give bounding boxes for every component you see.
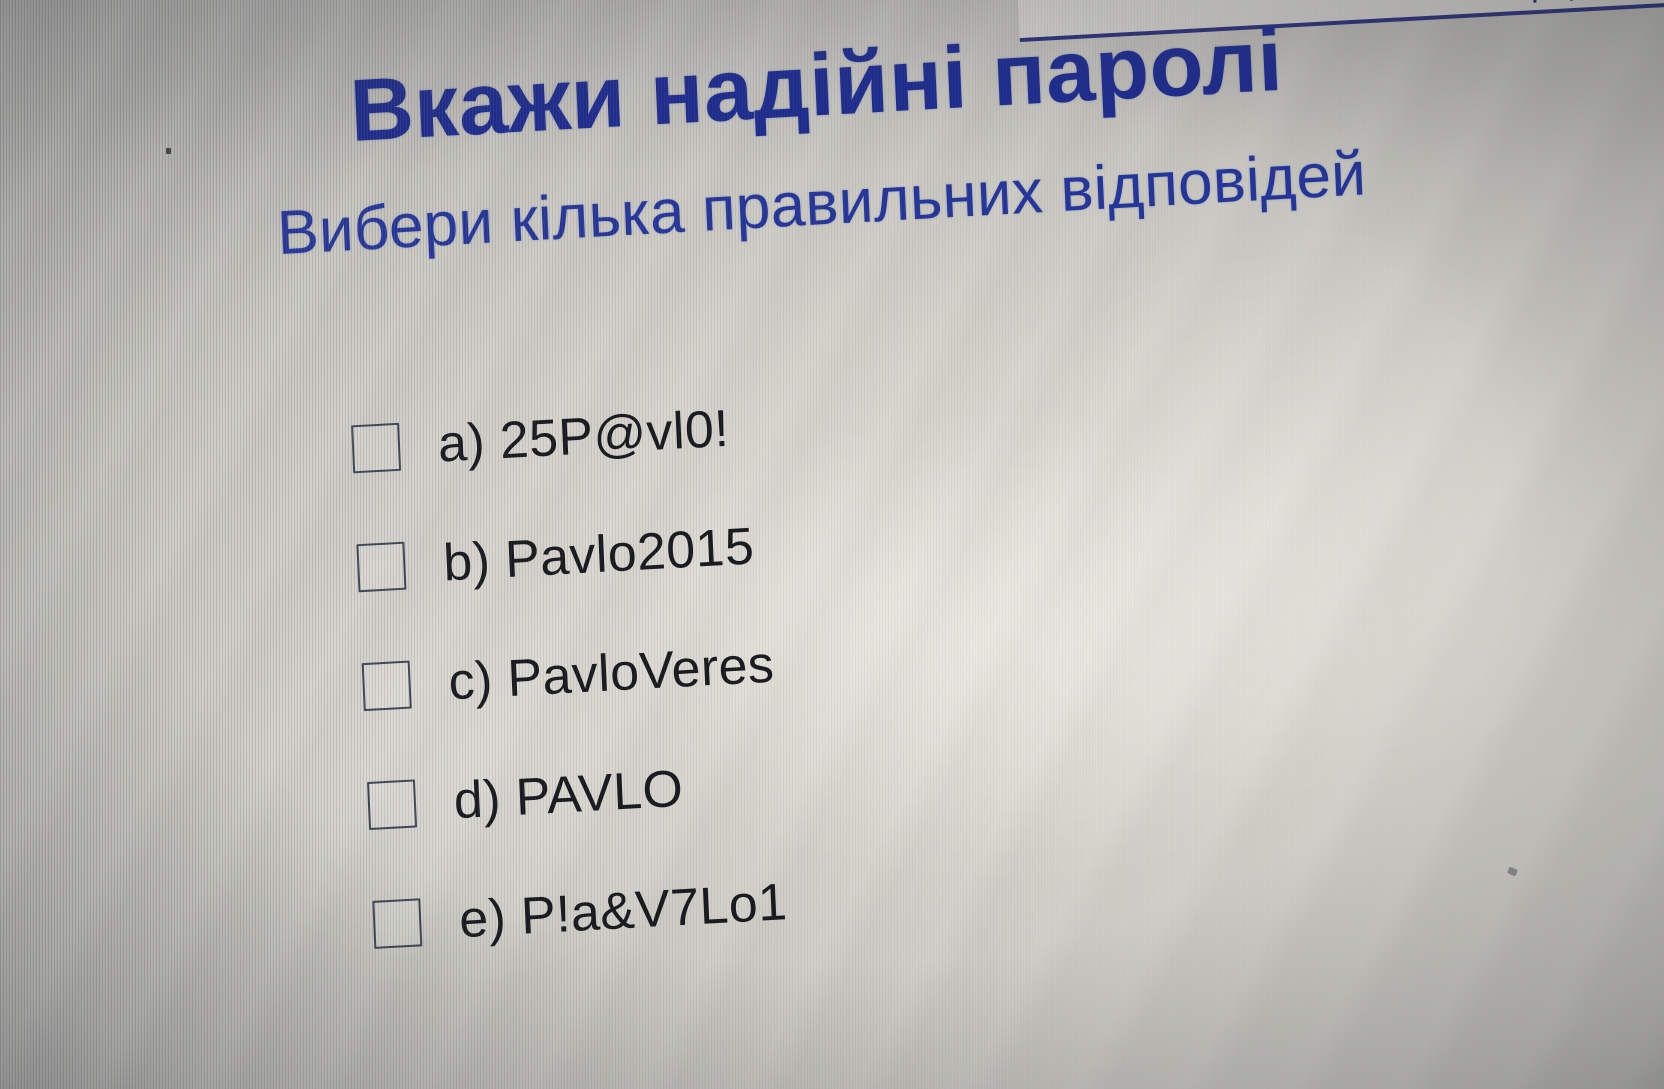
answer-label-c[interactable]: c) PavloVeres xyxy=(447,635,775,713)
answer-option-a[interactable]: a) 25P@vl0! xyxy=(351,365,1332,481)
answer-option-d[interactable]: d) PAVLO xyxy=(367,721,1348,837)
answer-label-d[interactable]: d) PAVLO xyxy=(453,759,685,832)
answer-options-list: a) 25P@vl0! b) Pavlo2015 c) PavloVeres d… xyxy=(351,365,1353,956)
quiz-content: Вкажи надійні паролі Вибери кілька прави… xyxy=(0,0,1664,1089)
photographed-screen: программы Вкажи надійні паролі Вибери кі… xyxy=(0,0,1664,1089)
checkbox-c[interactable] xyxy=(362,661,412,712)
answer-option-b[interactable]: b) Pavlo2015 xyxy=(356,483,1337,599)
answer-option-c[interactable]: c) PavloVeres xyxy=(361,602,1342,718)
checkbox-d[interactable] xyxy=(367,779,417,830)
checkbox-b[interactable] xyxy=(356,542,406,593)
checkbox-e[interactable] xyxy=(372,898,422,949)
answer-label-a[interactable]: a) 25P@vl0! xyxy=(437,399,731,475)
checkbox-a[interactable] xyxy=(351,423,401,474)
answer-label-b[interactable]: b) Pavlo2015 xyxy=(442,516,755,593)
answer-label-e[interactable]: e) P!a&V7Lo1 xyxy=(458,872,789,950)
dust-speck xyxy=(166,148,171,154)
answer-option-e[interactable]: e) P!a&V7Lo1 xyxy=(372,840,1353,956)
